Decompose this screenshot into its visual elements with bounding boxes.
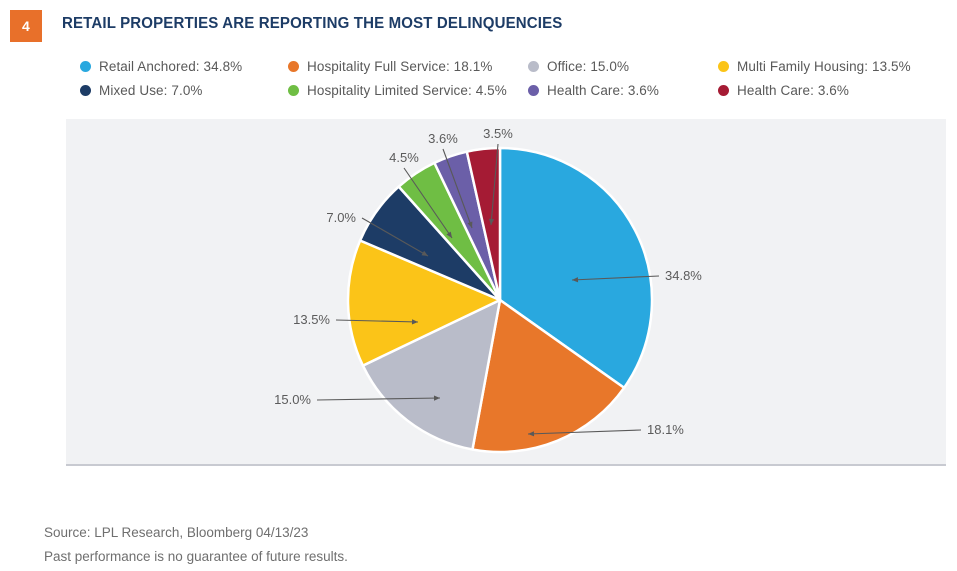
legend-item[interactable]: Office: 15.0% bbox=[528, 54, 718, 78]
pie-value-label: 3.5% bbox=[483, 126, 513, 141]
chart-legend: Retail Anchored: 34.8%Hospitality Full S… bbox=[80, 54, 950, 102]
legend-item-label: Hospitality Limited Service: 4.5% bbox=[307, 83, 507, 98]
slide-header: 4 RETAIL PROPERTIES ARE REPORTING THE MO… bbox=[0, 0, 957, 50]
chart-panel: 34.8%18.1%15.0%13.5%7.0%4.5%3.6%3.5% bbox=[66, 119, 946, 465]
legend-swatch-icon bbox=[288, 61, 299, 72]
pie-value-label: 34.8% bbox=[665, 268, 702, 283]
legend-swatch-icon bbox=[288, 85, 299, 96]
legend-swatch-icon bbox=[528, 61, 539, 72]
legend-item[interactable]: Retail Anchored: 34.8% bbox=[80, 54, 288, 78]
legend-swatch-icon bbox=[80, 85, 91, 96]
slide-number-badge: 4 bbox=[10, 10, 42, 42]
pie-value-label: 3.6% bbox=[428, 131, 458, 146]
legend-item[interactable]: Health Care: 3.6% bbox=[718, 78, 948, 102]
legend-item[interactable]: Multi Family Housing: 13.5% bbox=[718, 54, 948, 78]
page-title: RETAIL PROPERTIES ARE REPORTING THE MOST… bbox=[62, 15, 562, 33]
legend-item[interactable]: Hospitality Limited Service: 4.5% bbox=[288, 78, 528, 102]
footer-disclaimer: Past performance is no guarantee of futu… bbox=[44, 545, 348, 569]
panel-baseline-rule bbox=[66, 464, 946, 466]
pie-chart: 34.8%18.1%15.0%13.5%7.0%4.5%3.6%3.5% bbox=[66, 119, 946, 465]
pie-value-label: 4.5% bbox=[389, 150, 419, 165]
legend-item[interactable]: Health Care: 3.6% bbox=[528, 78, 718, 102]
legend-item-label: Multi Family Housing: 13.5% bbox=[737, 59, 911, 74]
pie-value-label: 13.5% bbox=[293, 312, 330, 327]
legend-item-label: Hospitality Full Service: 18.1% bbox=[307, 59, 492, 74]
legend-swatch-icon bbox=[718, 85, 729, 96]
legend-item-label: Health Care: 3.6% bbox=[547, 83, 659, 98]
legend-swatch-icon bbox=[80, 61, 91, 72]
legend-swatch-icon bbox=[528, 85, 539, 96]
pie-value-label: 7.0% bbox=[326, 210, 356, 225]
legend-swatch-icon bbox=[718, 61, 729, 72]
pie-value-label: 18.1% bbox=[647, 422, 684, 437]
legend-item-label: Health Care: 3.6% bbox=[737, 83, 849, 98]
legend-item[interactable]: Mixed Use: 7.0% bbox=[80, 78, 288, 102]
legend-item-label: Mixed Use: 7.0% bbox=[99, 83, 203, 98]
legend-item-label: Retail Anchored: 34.8% bbox=[99, 59, 242, 74]
pie-value-label: 15.0% bbox=[274, 392, 311, 407]
legend-item-label: Office: 15.0% bbox=[547, 59, 629, 74]
legend-item[interactable]: Hospitality Full Service: 18.1% bbox=[288, 54, 528, 78]
footer-source: Source: LPL Research, Bloomberg 04/13/23 bbox=[44, 521, 348, 545]
footer: Source: LPL Research, Bloomberg 04/13/23… bbox=[44, 521, 348, 569]
